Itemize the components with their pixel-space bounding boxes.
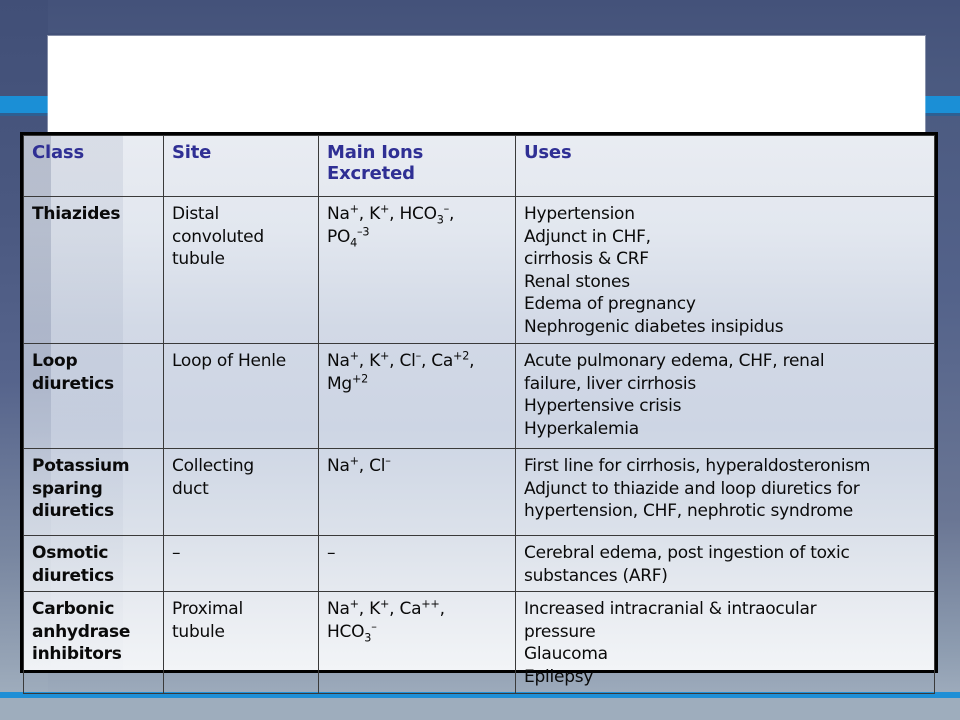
slide-canvas: Class Site Main Ions Excreted Uses Thiaz… [0, 0, 960, 720]
cell-site: Loop of Henle [164, 344, 319, 449]
cell-uses: Increased intracranial & intraocularpres… [516, 592, 935, 693]
column-header-uses: Uses [516, 136, 935, 197]
cell-class: Carbonic anhydrase inhibitors [24, 592, 164, 693]
cell-main-ions-excreted: Na+, K+, Cl–, Ca+2,Mg+2 [319, 344, 516, 449]
cell-line: Edema of pregnancy [524, 293, 926, 316]
cell-uses: Cerebral edema, post ingestion of toxics… [516, 536, 935, 592]
diuretics-table: Class Site Main Ions Excreted Uses Thiaz… [23, 135, 935, 694]
cell-line: HCO3– [327, 621, 507, 644]
cell-main-ions-excreted: Na+, K+, Ca++,HCO3– [319, 592, 516, 693]
cell-site: Proximaltubule [164, 592, 319, 693]
cell-line: Na+, K+, Ca++, [327, 598, 507, 621]
cell-site: Distalconvolutedtubule [164, 197, 319, 344]
cell-line: Na+, Cl– [327, 455, 507, 478]
cell-line: Adjunct to thiazide and loop diuretics f… [524, 478, 926, 501]
column-header-main-ions-excreted: Main Ions Excreted [319, 136, 516, 197]
cell-line: Cerebral edema, post ingestion of toxic [524, 542, 926, 565]
cell-uses: HypertensionAdjunct in CHF,cirrhosis & C… [516, 197, 935, 344]
cell-line: substances (ARF) [524, 565, 926, 588]
cell-line: Glaucoma [524, 643, 926, 666]
cell-line: Hyperkalemia [524, 418, 926, 441]
cell-main-ions-excreted: Na+, Cl– [319, 449, 516, 536]
column-header-main-ions-excreted-text: Main Ions Excreted [327, 142, 423, 184]
table-row: Potassium sparing diureticsCollectingduc… [24, 449, 935, 536]
cell-line: duct [172, 478, 310, 501]
cell-line: Epilepsy [524, 666, 926, 689]
cell-site: Collectingduct [164, 449, 319, 536]
cell-class: Loop diuretics [24, 344, 164, 449]
cell-line: Renal stones [524, 271, 926, 294]
cell-line: tubule [172, 248, 310, 271]
cell-line: Increased intracranial & intraocular [524, 598, 926, 621]
cell-uses: Acute pulmonary edema, CHF, renalfailure… [516, 344, 935, 449]
table-header-row: Class Site Main Ions Excreted Uses [24, 136, 935, 197]
column-header-site: Site [164, 136, 319, 197]
cell-line: Mg+2 [327, 373, 507, 396]
table-row: Osmotic diuretics––Cerebral edema, post … [24, 536, 935, 592]
cell-line: Distal [172, 203, 310, 226]
cell-line: Nephrogenic diabetes insipidus [524, 316, 926, 339]
cell-line: Loop of Henle [172, 350, 310, 373]
cell-line: cirrhosis & CRF [524, 248, 926, 271]
table-header: Class Site Main Ions Excreted Uses [24, 136, 935, 197]
cell-line: tubule [172, 621, 310, 644]
table-row: Loop diureticsLoop of HenleNa+, K+, Cl–,… [24, 344, 935, 449]
cell-uses: First line for cirrhosis, hyperaldostero… [516, 449, 935, 536]
cell-line: Acute pulmonary edema, CHF, renal [524, 350, 926, 373]
cell-line: First line for cirrhosis, hyperaldostero… [524, 455, 926, 478]
cell-line: – [327, 542, 507, 565]
cell-line: Hypertension [524, 203, 926, 226]
cell-line: Proximal [172, 598, 310, 621]
table-body: ThiazidesDistalconvolutedtubuleNa+, K+, … [24, 197, 935, 694]
cell-line: convoluted [172, 226, 310, 249]
column-header-class: Class [24, 136, 164, 197]
cell-line: Adjunct in CHF, [524, 226, 926, 249]
cell-class: Thiazides [24, 197, 164, 344]
cell-line: Na+, K+, HCO3–, [327, 203, 507, 226]
cell-line: PO4–3 [327, 226, 507, 249]
cell-line: pressure [524, 621, 926, 644]
cell-line: Collecting [172, 455, 310, 478]
cell-main-ions-excreted: – [319, 536, 516, 592]
cell-main-ions-excreted: Na+, K+, HCO3–,PO4–3 [319, 197, 516, 344]
diuretics-table-container: Class Site Main Ions Excreted Uses Thiaz… [20, 132, 938, 673]
background-bottom-fill [0, 698, 960, 720]
cell-class: Osmotic diuretics [24, 536, 164, 592]
table-row: Carbonic anhydrase inhibitorsProximaltub… [24, 592, 935, 693]
cell-site: – [164, 536, 319, 592]
table-row: ThiazidesDistalconvolutedtubuleNa+, K+, … [24, 197, 935, 344]
cell-line: failure, liver cirrhosis [524, 373, 926, 396]
cell-class: Potassium sparing diuretics [24, 449, 164, 536]
cell-line: Na+, K+, Cl–, Ca+2, [327, 350, 507, 373]
cell-line: hypertension, CHF, nephrotic syndrome [524, 500, 926, 523]
cell-line: – [172, 542, 310, 565]
cell-line: Hypertensive crisis [524, 395, 926, 418]
